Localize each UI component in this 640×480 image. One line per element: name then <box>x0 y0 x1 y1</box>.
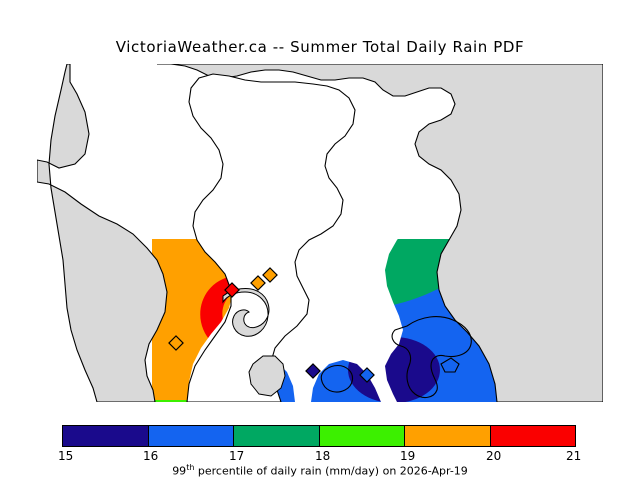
colorbar-band-2[interactable] <box>234 426 320 446</box>
colorbar-band-1[interactable] <box>149 426 235 446</box>
colorbar-tick-3: 18 <box>315 449 330 463</box>
colorbar-tick-0: 15 <box>58 449 73 463</box>
caption-prefix: 99 <box>172 465 186 478</box>
map-panel <box>37 64 603 402</box>
colorbar-band-3[interactable] <box>320 426 406 446</box>
colorbar-tick-6: 21 <box>566 449 581 463</box>
colorbar-tick-2: 17 <box>229 449 244 463</box>
colorbar-caption: 99th percentile of daily rain (mm/day) o… <box>0 463 640 478</box>
colorbar-panel: 15 16 17 18 19 20 21 99th percentile of … <box>0 420 640 480</box>
rain-contour-map <box>37 64 603 402</box>
colorbar-tick-1: 16 <box>143 449 158 463</box>
colorbar-band-5[interactable] <box>491 426 576 446</box>
colorbar-band-4[interactable] <box>405 426 491 446</box>
weather-map-page: VictoriaWeather.ca -- Summer Total Daily… <box>0 0 640 480</box>
caption-rest: percentile of daily rain (mm/day) on 202… <box>194 465 467 478</box>
page-title: VictoriaWeather.ca -- Summer Total Daily… <box>0 38 640 56</box>
colorbar-tick-5: 20 <box>486 449 501 463</box>
colorbar-tick-4: 19 <box>400 449 415 463</box>
colorbar-band-0[interactable] <box>63 426 149 446</box>
colorbar[interactable] <box>62 425 576 447</box>
